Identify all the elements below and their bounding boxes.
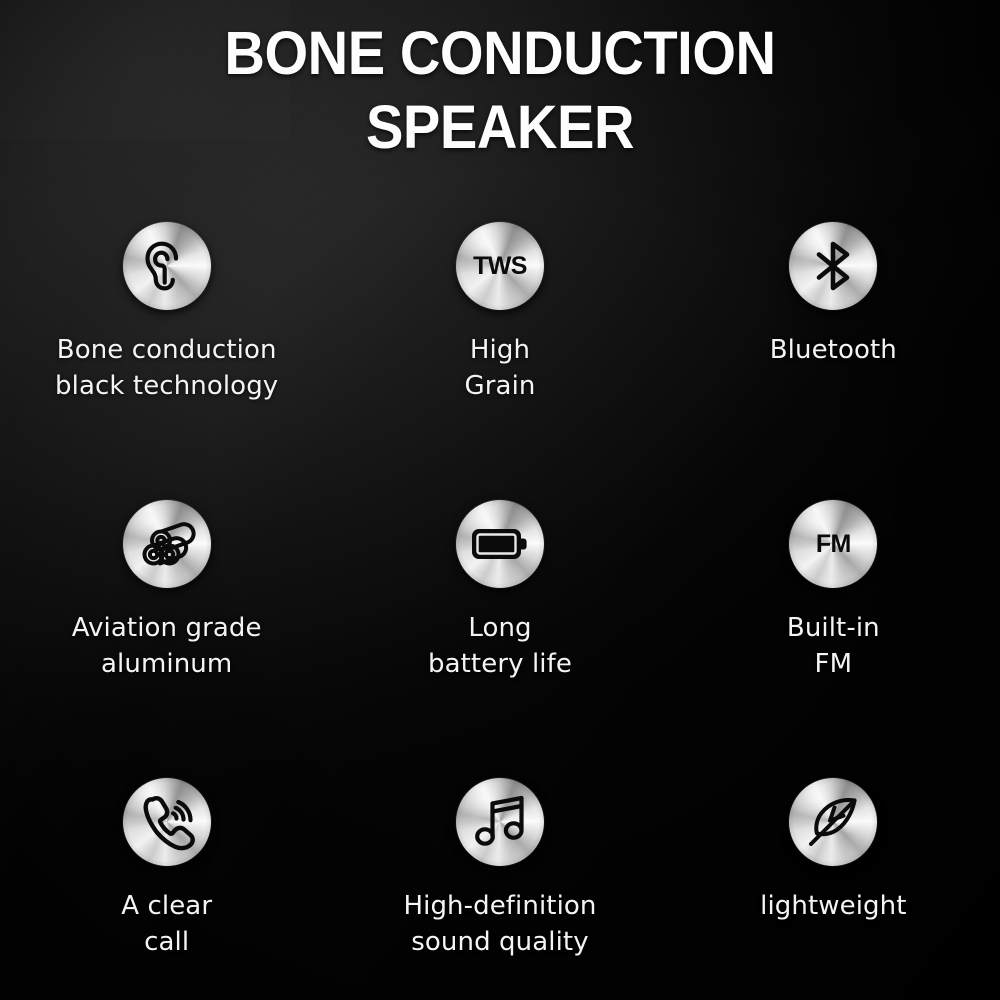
feature-caption: Bluetooth xyxy=(770,332,897,368)
caption-line-2: FM xyxy=(787,646,880,682)
feature-caption: High-definition sound quality xyxy=(403,888,596,960)
caption-line-2: aluminum xyxy=(72,646,262,682)
feature-caption: Bone conduction black technology xyxy=(55,332,278,404)
feature-caption: Built-in FM xyxy=(787,610,880,682)
title-line-1: BONE CONDUCTION xyxy=(40,16,960,90)
caption-line-2: call xyxy=(121,924,212,960)
aluminum-tubes-icon xyxy=(123,500,211,588)
feature-item-aviation-aluminum: Aviation grade aluminum xyxy=(0,500,333,778)
music-note-icon xyxy=(456,778,544,866)
feature-caption: High Grain xyxy=(465,332,536,404)
feature-row: Bone conduction black technology TWS Hig… xyxy=(0,222,1000,500)
caption-line-1: High xyxy=(470,335,530,365)
caption-line-1: Long xyxy=(468,613,531,643)
ear-icon xyxy=(123,222,211,310)
caption-line-1: Bluetooth xyxy=(770,335,897,365)
battery-icon xyxy=(456,500,544,588)
feature-grid: Bone conduction black technology TWS Hig… xyxy=(0,222,1000,1000)
caption-line-1: A clear xyxy=(121,891,212,921)
feature-item-clear-call: A clear call xyxy=(0,778,333,1000)
feature-row: Aviation grade aluminum Long battery lif… xyxy=(0,500,1000,778)
feature-item-built-in-fm: FM Built-in FM xyxy=(667,500,1000,778)
fm-text-icon: FM xyxy=(789,500,877,588)
feature-item-bone-conduction: Bone conduction black technology xyxy=(0,222,333,500)
feature-caption: Aviation grade aluminum xyxy=(72,610,262,682)
caption-line-1: High-definition xyxy=(403,891,596,921)
feature-item-battery-life: Long battery life xyxy=(333,500,666,778)
caption-line-1: Built-in xyxy=(787,613,880,643)
feature-item-lightweight: lightweight xyxy=(667,778,1000,1000)
caption-line-2: sound quality xyxy=(403,924,596,960)
caption-line-2: Grain xyxy=(465,368,536,404)
feature-item-bluetooth: Bluetooth xyxy=(667,222,1000,500)
phone-call-icon xyxy=(123,778,211,866)
feather-icon xyxy=(789,778,877,866)
feature-caption: lightweight xyxy=(760,888,906,924)
title-line-2: SPEAKER xyxy=(40,90,960,164)
page-title: BONE CONDUCTION SPEAKER xyxy=(0,16,1000,164)
product-feature-poster: BONE CONDUCTION SPEAKER Bone conduction … xyxy=(0,0,1000,1000)
feature-caption: A clear call xyxy=(121,888,212,960)
caption-line-1: Bone conduction xyxy=(57,335,277,365)
caption-line-2: battery life xyxy=(428,646,572,682)
feature-caption: Long battery life xyxy=(428,610,572,682)
feature-item-sound-quality: High-definition sound quality xyxy=(333,778,666,1000)
bluetooth-icon xyxy=(789,222,877,310)
caption-line-1: Aviation grade xyxy=(72,613,262,643)
caption-line-1: lightweight xyxy=(760,891,906,921)
feature-item-high-grain: TWS High Grain xyxy=(333,222,666,500)
fm-label: FM xyxy=(789,500,877,588)
caption-line-2: black technology xyxy=(55,368,278,404)
tws-label: TWS xyxy=(456,222,544,310)
tws-text-icon: TWS xyxy=(456,222,544,310)
feature-row: A clear call High-def xyxy=(0,778,1000,1000)
